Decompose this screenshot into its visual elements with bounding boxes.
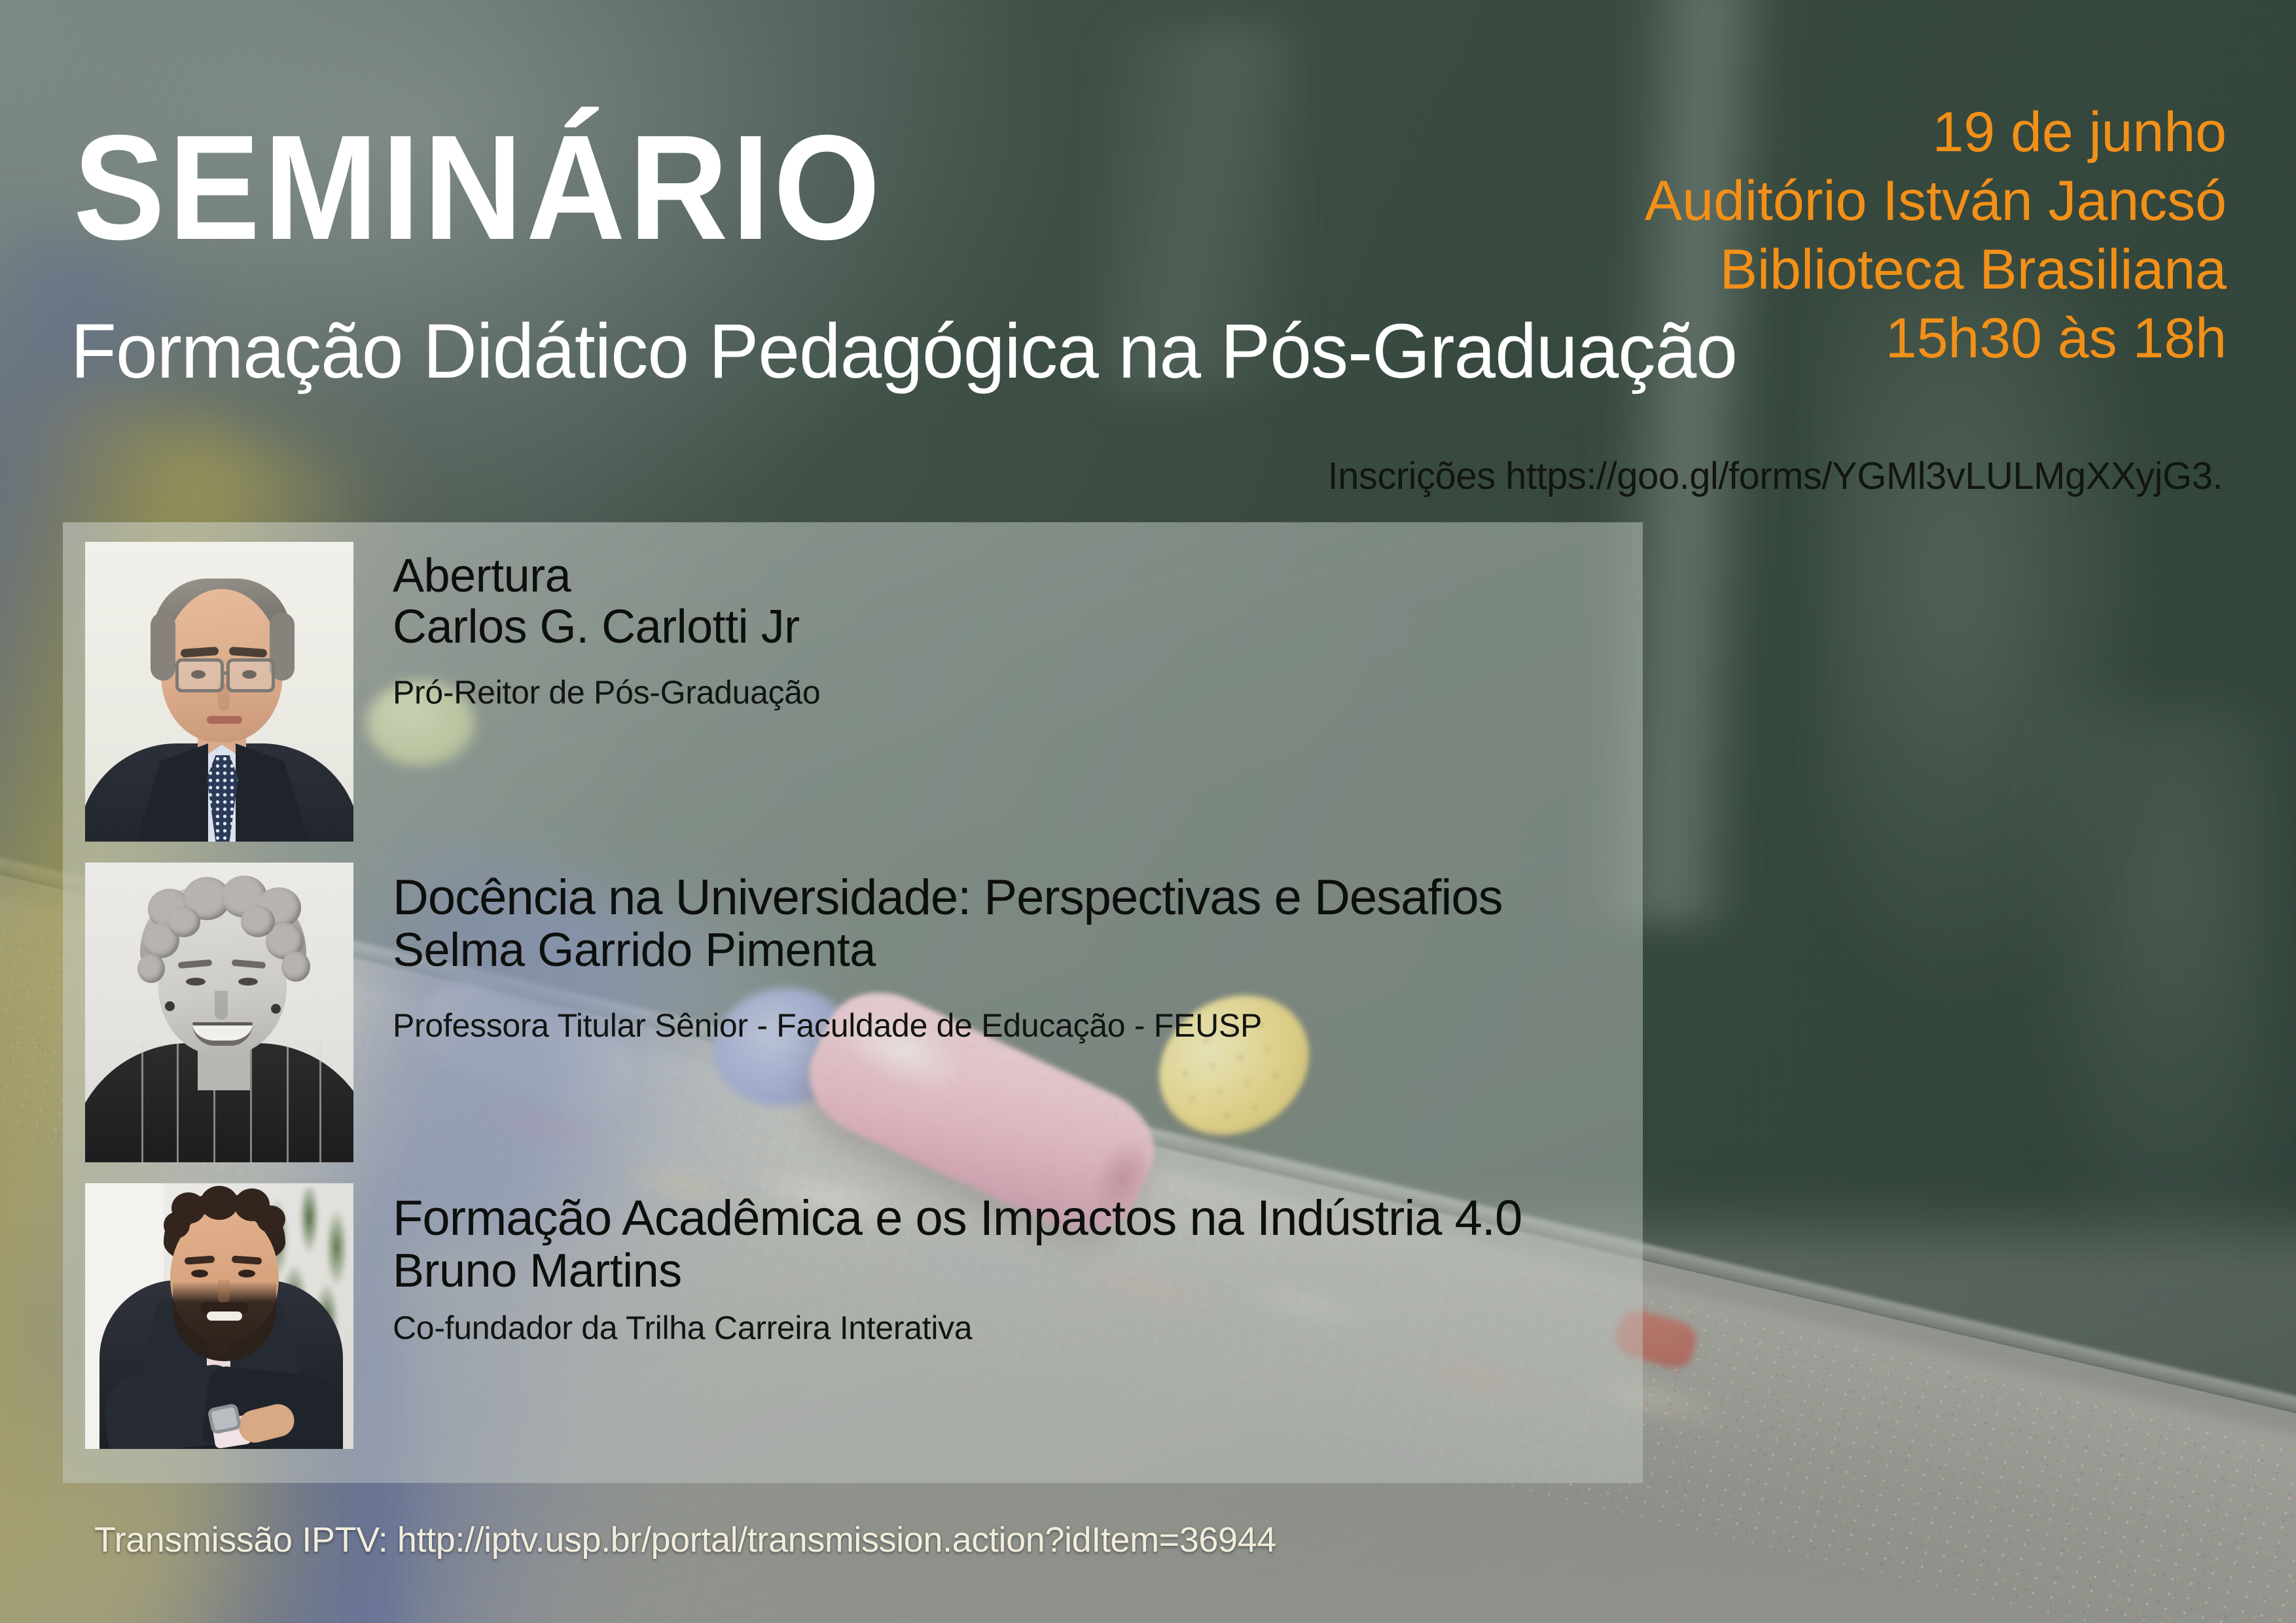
speaker-text: Abertura Carlos G. Carlotti Jr Pró-Reito…: [393, 542, 820, 711]
speaker-row: Abertura Carlos G. Carlotti Jr Pró-Reito…: [85, 542, 820, 842]
speaker-name: Selma Garrido Pimenta: [393, 924, 1503, 977]
event-info-block: 19 de junho Auditório István Jancsó Bibl…: [1645, 98, 2227, 373]
seminar-poster: SEMINÁRIO Formação Didático Pedagógica n…: [0, 0, 2296, 1623]
avatar: [85, 542, 353, 842]
speaker-row: Docência na Universidade: Perspectivas e…: [85, 863, 1503, 1162]
event-venue-room: Auditório István Jancsó: [1645, 167, 2227, 236]
page-title: SEMINÁRIO: [73, 116, 884, 260]
broadcast-link[interactable]: Transmissão IPTV: http://iptv.usp.br/por…: [94, 1520, 1276, 1560]
speaker-role: Professora Titular Sênior - Faculdade de…: [393, 1007, 1503, 1044]
speaker-text: Docência na Universidade: Perspectivas e…: [393, 863, 1503, 1044]
avatar: [85, 1183, 353, 1449]
event-venue-building: Biblioteca Brasiliana: [1645, 236, 2227, 304]
speaker-kicker: Abertura: [393, 551, 820, 601]
speaker-role: Co-fundador da Trilha Carreira Interativ…: [393, 1309, 1522, 1347]
avatar: [85, 863, 353, 1162]
speaker-name: Carlos G. Carlotti Jr: [393, 601, 820, 654]
talk-title: Docência na Universidade: Perspectivas e…: [393, 872, 1503, 924]
event-date: 19 de junho: [1645, 98, 2227, 167]
event-time: 15h30 às 18h: [1645, 304, 2227, 373]
speaker-name: Bruno Martins: [393, 1245, 1522, 1298]
speaker-role: Pró-Reitor de Pós-Graduação: [393, 673, 820, 711]
talk-title: Formação Acadêmica e os Impactos na Indú…: [393, 1192, 1522, 1245]
speaker-text: Formação Acadêmica e os Impactos na Indú…: [393, 1183, 1522, 1347]
registration-link[interactable]: Inscrições https://goo.gl/forms/YGMl3vLU…: [1327, 454, 2223, 498]
page-subtitle: Formação Didático Pedagógica na Pós-Grad…: [71, 313, 1737, 390]
speaker-row: Formação Acadêmica e os Impactos na Indú…: [85, 1183, 1522, 1449]
